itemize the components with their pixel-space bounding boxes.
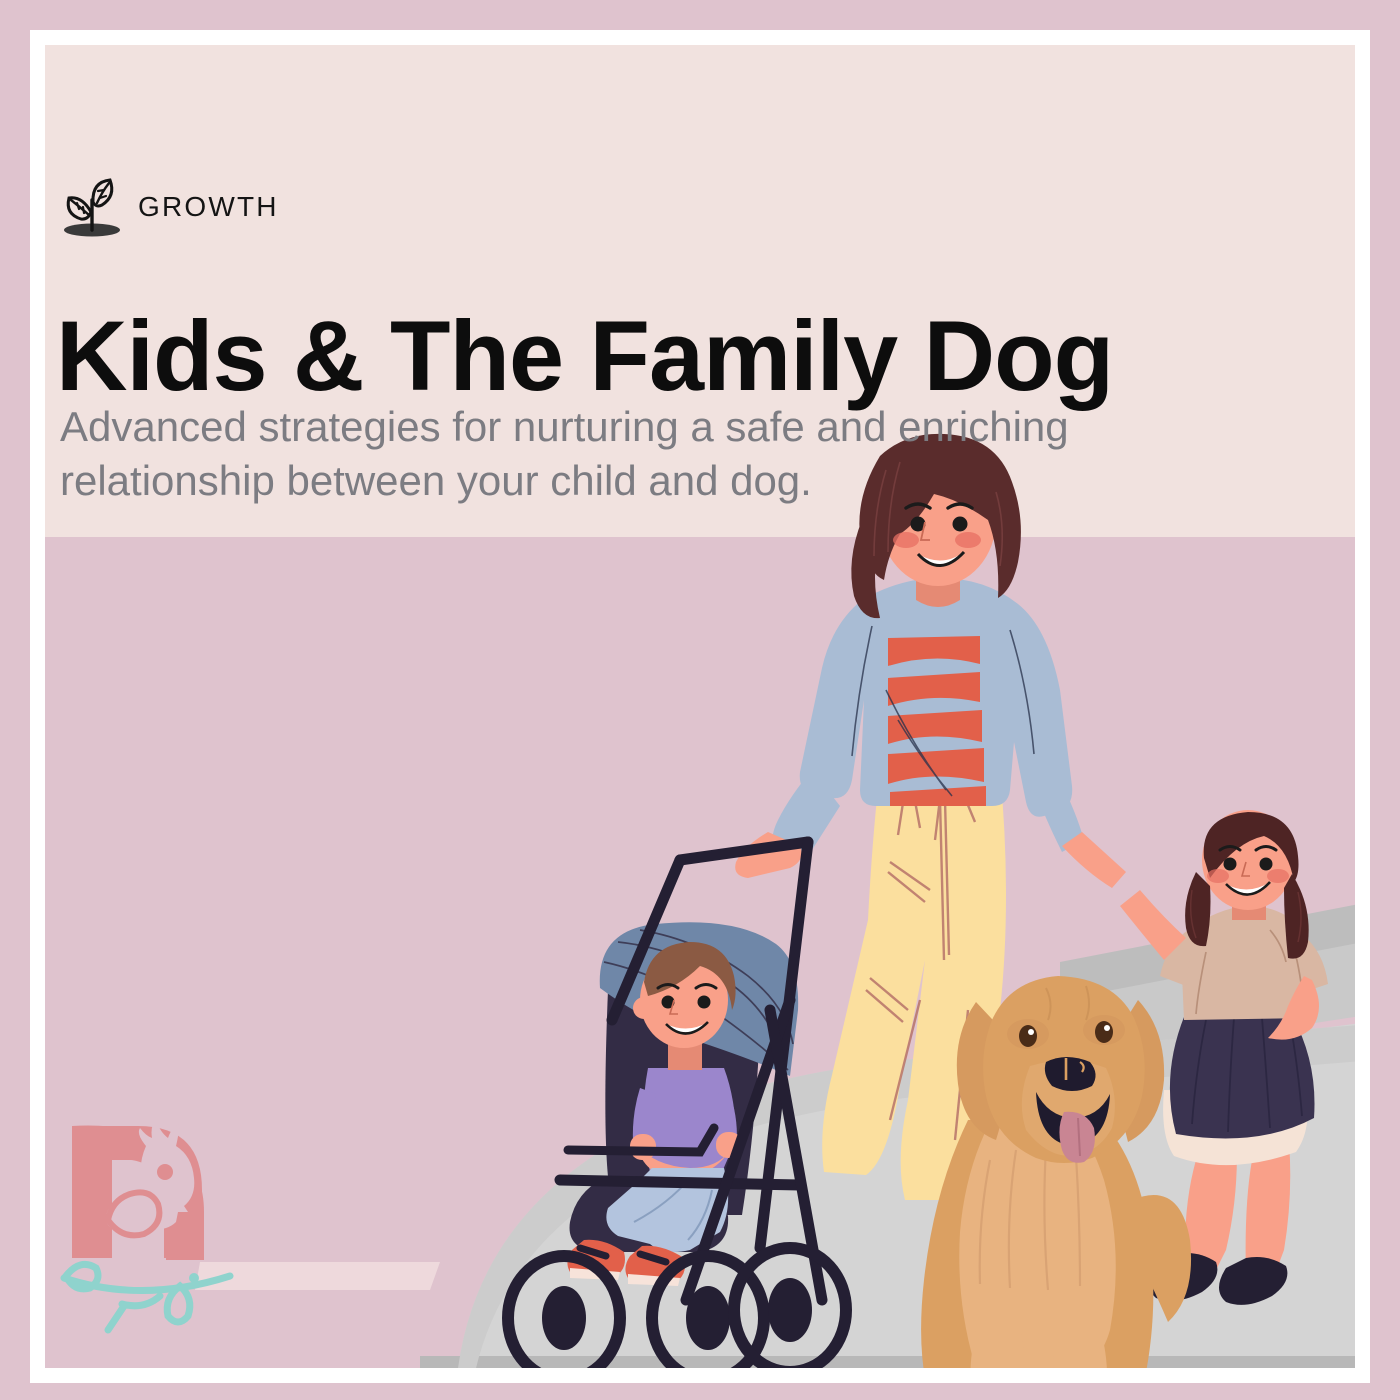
outer-margin-right [1370, 0, 1400, 1400]
mother-right-hand [1062, 832, 1126, 888]
outer-margin-bottom [0, 1383, 1400, 1400]
sprout-icon [60, 176, 124, 238]
poster-canvas: GROWTH Kids & The Family Dog Advanced st… [0, 0, 1400, 1400]
kicker: GROWTH [60, 176, 279, 238]
page-title: Kids & The Family Dog [56, 306, 1113, 405]
bird-on-branch-logo [52, 1108, 282, 1338]
page-subtitle: Advanced strategies for nurturing a safe… [60, 400, 1190, 508]
kicker-label: GROWTH [138, 191, 279, 223]
